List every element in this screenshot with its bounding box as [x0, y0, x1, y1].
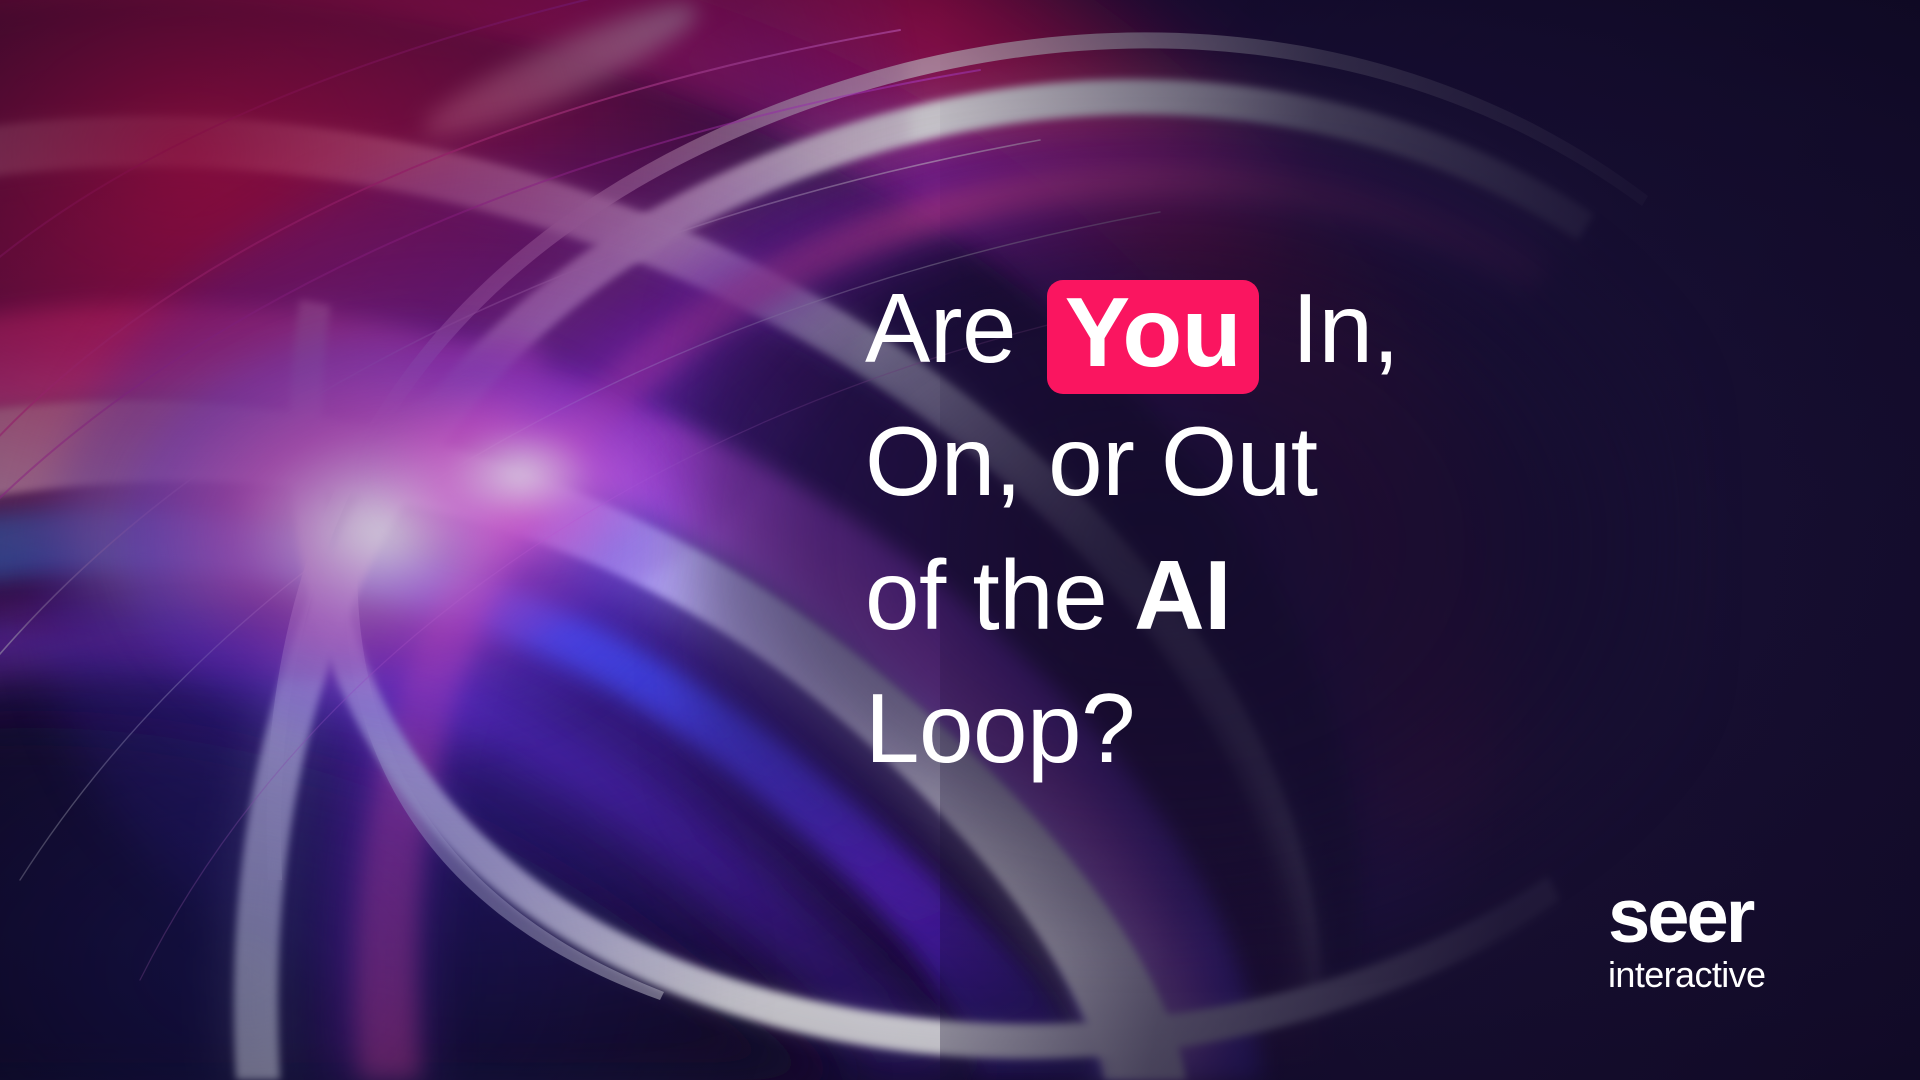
headline: Are You In, On, or Out of the AI Loop?: [865, 262, 1845, 795]
promotional-banner: Are You In, On, or Out of the AI Loop? s…: [0, 0, 1920, 1080]
headline-line-1-prefix: Are: [865, 273, 1043, 383]
headline-line-4: Loop?: [865, 662, 1845, 795]
logo-tagline: interactive: [1608, 955, 1848, 995]
headline-you-badge: You: [1047, 280, 1259, 394]
headline-ai-emphasis: AI: [1134, 540, 1231, 650]
headline-line-1-suffix: In,: [1265, 273, 1399, 383]
headline-line-1: Are You In,: [865, 262, 1845, 395]
headline-line-2: On, or Out: [865, 395, 1845, 528]
seer-interactive-logo: seer interactive: [1608, 884, 1848, 994]
headline-line-3: of the AI: [865, 529, 1845, 662]
logo-wordmark: seer: [1608, 884, 1848, 951]
headline-line-3-prefix: of the: [865, 540, 1134, 650]
